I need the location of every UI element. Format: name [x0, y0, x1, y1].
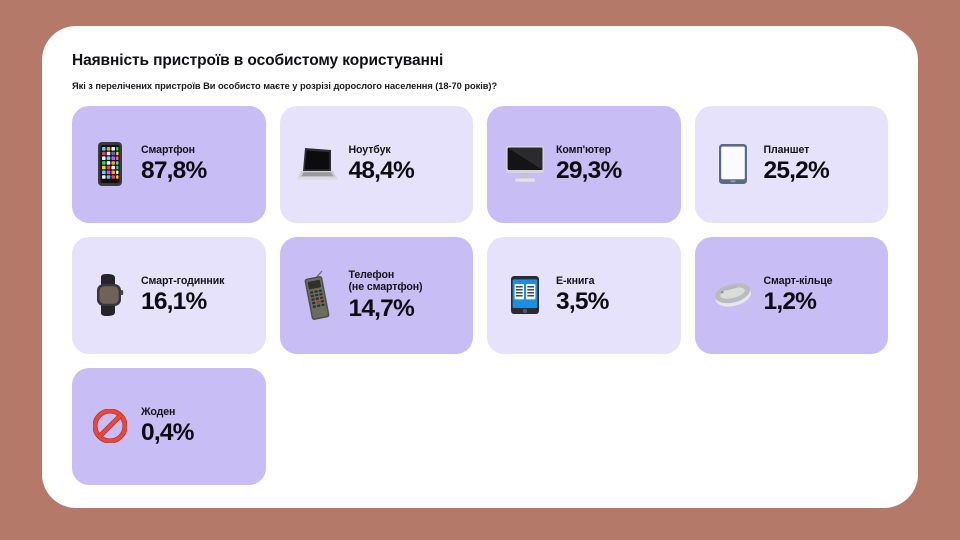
device-value: 16,1%: [141, 288, 252, 315]
device-card-smartwatch[interactable]: Смарт-годинник 16,1%: [72, 237, 266, 354]
device-label: Комп'ютер: [556, 144, 667, 157]
device-label: Смартфон: [141, 144, 252, 157]
desktop-computer-icon: [503, 138, 547, 190]
slide-canvas: Наявність пристроїв в особистому користу…: [0, 0, 960, 540]
device-label: Смарт-кільце: [764, 275, 875, 288]
device-card-desktop[interactable]: Комп'ютер 29,3%: [487, 106, 681, 223]
device-value: 25,2%: [764, 157, 875, 184]
e-reader-icon: [503, 269, 547, 321]
device-value: 0,4%: [141, 419, 252, 446]
device-label: Жоден: [141, 406, 252, 419]
smartphone-icon: [88, 138, 132, 190]
page-title: Наявність пристроїв в особистому користу…: [72, 52, 888, 71]
device-card-tablet[interactable]: Планшет 25,2%: [695, 106, 889, 223]
device-card-smart-ring[interactable]: Смарт-кільце 1,2%: [695, 237, 889, 354]
device-label: Е-книга: [556, 275, 667, 288]
device-card-feature-phone[interactable]: Телефон (не смартфон) 14,7%: [280, 237, 474, 354]
feature-phone-icon: [296, 269, 340, 321]
card-text: Телефон (не смартфон) 14,7%: [349, 269, 460, 322]
device-value: 1,2%: [764, 288, 875, 315]
card-text: Смарт-годинник 16,1%: [141, 275, 252, 316]
card-text: Ноутбук 48,4%: [349, 144, 460, 185]
card-text: Планшет 25,2%: [764, 144, 875, 185]
card-text: Смарт-кільце 1,2%: [764, 275, 875, 316]
device-label: Смарт-годинник: [141, 275, 252, 288]
device-value: 29,3%: [556, 157, 667, 184]
page-subtitle: Які з перелічених пристроїв Ви особисто …: [72, 81, 888, 92]
smartwatch-icon: [88, 269, 132, 321]
card-text: Жоден 0,4%: [141, 406, 252, 447]
device-label: Телефон (не смартфон): [349, 269, 460, 294]
device-value: 87,8%: [141, 157, 252, 184]
content-panel: Наявність пристроїв в особистому користу…: [42, 26, 918, 508]
device-card-none[interactable]: Жоден 0,4%: [72, 368, 266, 485]
laptop-icon: [296, 138, 340, 190]
device-value: 48,4%: [349, 157, 460, 184]
prohibited-icon: [88, 400, 132, 452]
device-card-grid: Смартфон 87,8% Ноутбук 48: [72, 106, 888, 485]
device-card-laptop[interactable]: Ноутбук 48,4%: [280, 106, 474, 223]
device-card-ereader[interactable]: Е-книга 3,5%: [487, 237, 681, 354]
smart-ring-icon: [711, 269, 755, 321]
card-text: Смартфон 87,8%: [141, 144, 252, 185]
device-value: 3,5%: [556, 288, 667, 315]
tablet-icon: [711, 138, 755, 190]
card-text: Е-книга 3,5%: [556, 275, 667, 316]
device-label: Планшет: [764, 144, 875, 157]
device-value: 14,7%: [349, 295, 460, 322]
card-text: Комп'ютер 29,3%: [556, 144, 667, 185]
device-card-smartphone[interactable]: Смартфон 87,8%: [72, 106, 266, 223]
device-label: Ноутбук: [349, 144, 460, 157]
